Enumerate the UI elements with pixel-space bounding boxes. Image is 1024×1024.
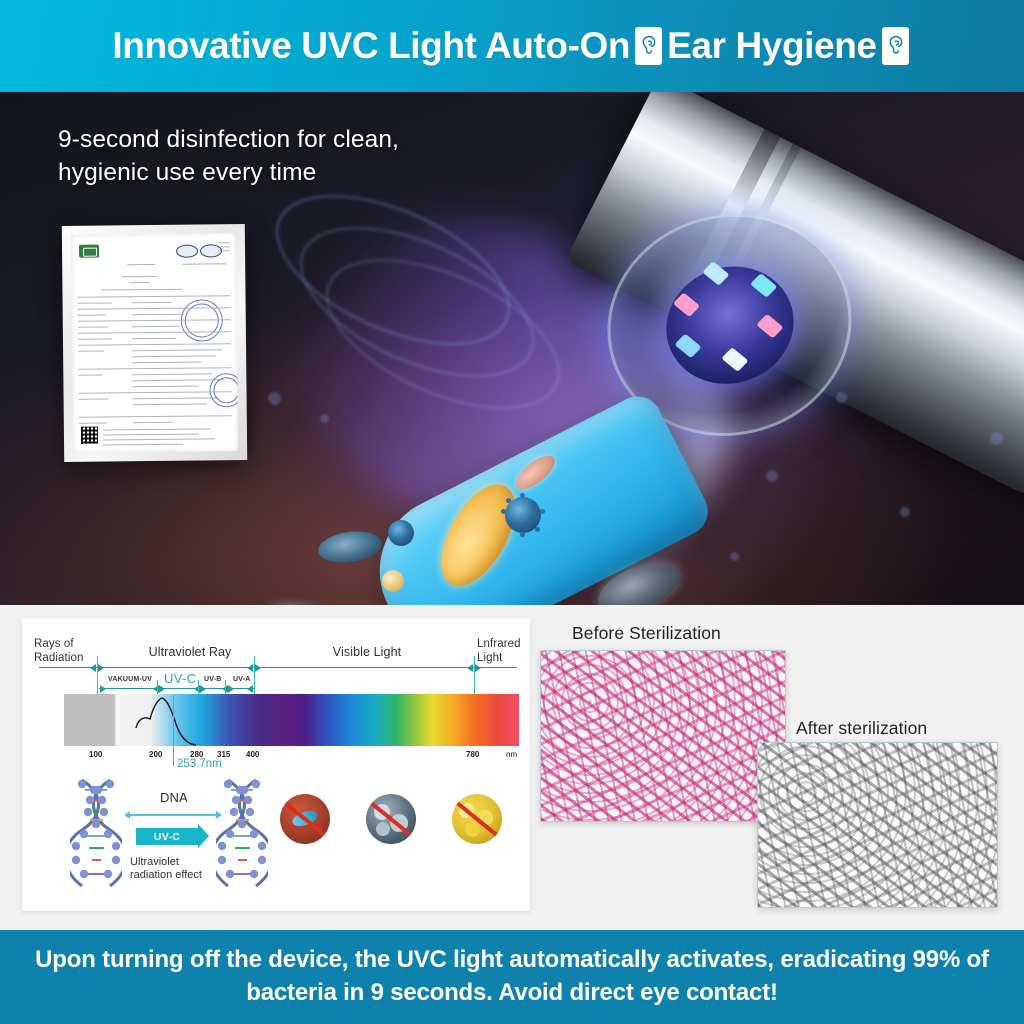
spectrum-tick-100: 100 — [89, 750, 102, 759]
header-banner: Innovative UVC Light Auto-On Ear Hygiene — [0, 0, 1024, 92]
led-emitter — [756, 314, 783, 339]
cnas-seal-icon — [176, 245, 198, 258]
cert-text-line — [218, 246, 230, 247]
cert-divider — [79, 415, 232, 418]
spectrum-tick-400: 400 — [246, 750, 259, 759]
led-emitter — [674, 333, 701, 358]
spectrum-sublabel-uvb: UV-B — [204, 676, 222, 683]
dust-particle — [836, 392, 847, 403]
cert-text-line — [78, 375, 102, 376]
ear-icon — [882, 27, 909, 65]
cert-text-line — [132, 302, 172, 304]
cert-text-line — [132, 379, 224, 381]
led-emitter — [702, 261, 729, 286]
axis-arrow — [90, 664, 96, 672]
after-sterilization-image — [757, 742, 998, 908]
cert-text-line — [218, 242, 230, 243]
orange-bacterium — [427, 473, 530, 598]
qr-code-icon — [81, 427, 98, 444]
cert-text-line — [78, 338, 112, 339]
dna-helix-right — [216, 778, 268, 888]
germicidal-response-curve — [64, 694, 519, 746]
blue-virus — [505, 497, 541, 533]
cert-text-line — [101, 289, 181, 291]
cert-text-line — [103, 428, 211, 430]
cert-text-line — [103, 438, 215, 440]
blue-virus — [388, 520, 414, 546]
cert-text-line — [121, 276, 157, 277]
peak-marker-line — [173, 694, 174, 766]
spectrum-sublabel-vakuum: VAKUUM-UV — [108, 676, 152, 683]
cert-text-line — [133, 403, 207, 405]
cert-text-line — [132, 349, 222, 351]
dna-label: DNA — [160, 790, 188, 805]
uv-effect-caption: Ultraviolet radiation effect — [130, 856, 220, 883]
cert-text-line — [132, 326, 180, 328]
dna-helix-left — [70, 778, 122, 888]
axis-arrow — [255, 664, 261, 672]
cert-text-line — [132, 338, 176, 340]
cert-text-line — [79, 398, 109, 399]
hero-caption: 9-second disinfection for clean, hygieni… — [58, 124, 488, 190]
dna-width-arrow — [130, 814, 216, 816]
cert-text-line — [133, 422, 173, 424]
before-sterilization-label: Before Sterilization — [572, 623, 721, 644]
cert-text-line — [103, 433, 199, 435]
cert-divider — [78, 343, 231, 346]
cert-divider — [79, 391, 232, 394]
dust-particle — [268, 392, 281, 405]
axis-arrow — [228, 685, 234, 693]
cert-text-line — [132, 373, 212, 375]
lab-logo-icon — [79, 245, 99, 258]
cert-text-line — [79, 423, 107, 424]
dust-particle — [900, 507, 910, 517]
after-sterilization-label: After sterilization — [796, 718, 927, 739]
cert-text-line — [78, 315, 106, 316]
dark-bacterium — [262, 597, 347, 605]
footer-text: Upon turning off the device, the UVC lig… — [0, 944, 1024, 1009]
certificate-frame — [62, 224, 247, 462]
cert-text-line — [78, 326, 108, 327]
axis-arrow — [247, 664, 253, 672]
page-title: Innovative UVC Light Auto-On Ear Hygiene — [112, 25, 911, 67]
spectrum-top-axis — [39, 667, 517, 668]
ear-icon — [635, 27, 662, 65]
spectrum-label-ultraviolet: Ultraviolet Ray — [115, 645, 265, 660]
cert-text-line — [132, 362, 202, 364]
spectrum-label-visible: Visible Light — [277, 645, 457, 660]
axis-arrow — [475, 664, 481, 672]
spectrum-unit-nm: nm — [506, 750, 517, 759]
dust-particle — [730, 552, 739, 561]
cert-text-line — [103, 444, 183, 446]
spectrum-label-rays: Rays of Radiation — [34, 638, 96, 665]
pink-rod-bacterium — [511, 450, 560, 495]
cert-text-line — [127, 264, 155, 265]
cert-text-line — [78, 351, 104, 352]
cert-text-line — [78, 302, 112, 303]
certificate-page — [71, 233, 238, 453]
uv-spectrum-chart: Rays of Radiation Ultraviolet Ray Visibl… — [22, 618, 530, 911]
dna-effect-diagram: DNA UV-C Ultraviolet radiation effect — [64, 776, 519, 894]
axis-arrow — [200, 685, 206, 693]
axis-arrow — [216, 811, 222, 819]
cert-text-line — [129, 282, 149, 283]
cert-text-line — [218, 250, 230, 251]
cert-divider — [78, 367, 231, 370]
spectrum-tick-780: 780 — [466, 750, 479, 759]
dust-particle — [990, 432, 1003, 445]
uvc-arrow-label: UV-C — [136, 828, 198, 845]
led-emitter — [721, 347, 748, 372]
led-emitter — [672, 292, 699, 317]
cert-text-line — [182, 263, 226, 265]
spectrum-sublabel-uvc: UV-C — [164, 671, 196, 686]
gray-cocci-circle — [366, 794, 416, 844]
red-bacteria-circle — [280, 794, 330, 844]
before-sterilization-image — [540, 650, 786, 822]
axis-arrow — [98, 664, 104, 672]
axis-arrow — [100, 685, 106, 693]
lens-core — [645, 249, 815, 402]
small-germ — [382, 570, 404, 592]
led-emitter — [750, 273, 777, 298]
yellow-staph-circle — [452, 794, 502, 844]
dust-particle — [320, 414, 329, 423]
cert-text-line — [132, 386, 198, 388]
axis-arrow — [247, 685, 253, 693]
cert-text-line — [132, 355, 216, 357]
header-title-part2: Ear Hygiene — [667, 25, 876, 67]
dark-bacterium — [316, 528, 384, 567]
axis-arrow — [467, 664, 473, 672]
axis-arrow — [124, 811, 130, 819]
info-section: Rays of Radiation Ultraviolet Ray Visibl… — [0, 605, 1024, 930]
spectrum-sublabel-uva: UV-A — [233, 676, 251, 683]
spectrum-tick-200: 200 — [149, 750, 162, 759]
footer-banner: Upon turning off the device, the UVC lig… — [0, 930, 1024, 1024]
header-title-part1: Innovative UVC Light Auto-On — [112, 25, 630, 67]
cert-divider — [78, 295, 231, 298]
hero-product-image: 9-second disinfection for clean, hygieni… — [0, 92, 1024, 605]
spectrum-label-infrared: Lnfrared Light — [477, 638, 529, 665]
cert-text-line — [132, 314, 184, 316]
axis-arrow — [159, 685, 165, 693]
peak-marker-label: 253.7nm — [177, 758, 222, 770]
cert-text-line — [133, 397, 219, 399]
dust-particle — [766, 470, 778, 482]
blue-stamp-icon — [209, 373, 238, 407]
